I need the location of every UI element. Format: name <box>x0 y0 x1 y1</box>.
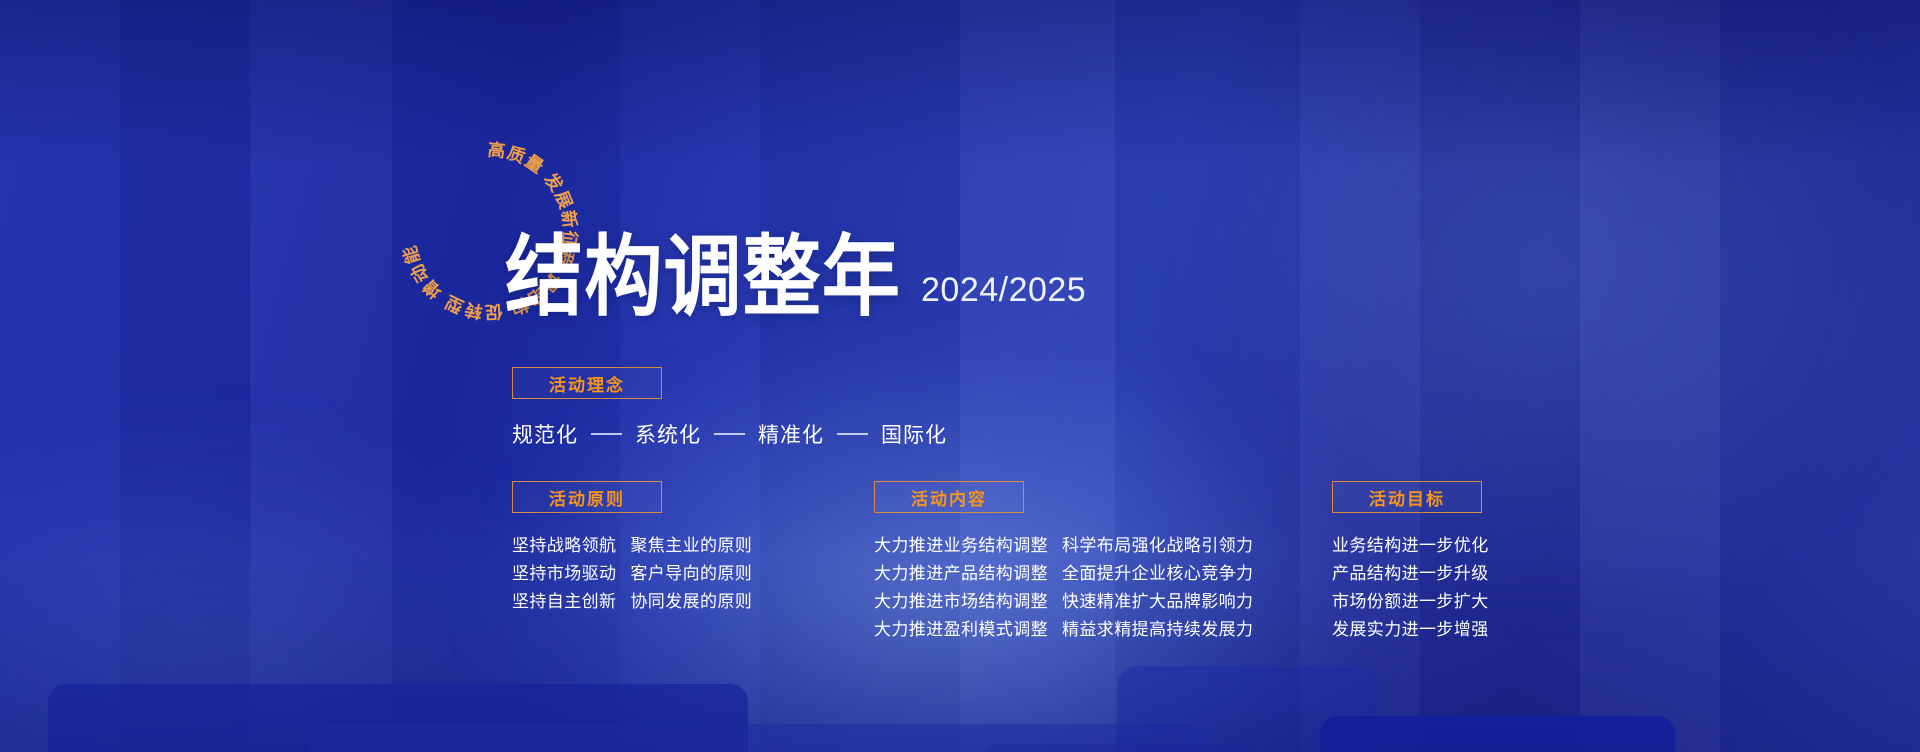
content-row-4-left: 大力推进盈利模式调整 <box>874 616 1048 644</box>
title-row: 结构调整年 2024/2025 <box>505 244 1086 320</box>
concept-keyword-list: 规范化 系统化 精准化 国际化 <box>512 419 947 449</box>
concept-item-3: 精准化 <box>758 419 824 449</box>
separator-dash-icon <box>714 433 745 435</box>
list-item: 坚持自主创新 协同发展的原则 <box>512 588 752 616</box>
goal-row-4: 发展实力进一步增强 <box>1332 616 1489 644</box>
content-list: 大力推进业务结构调整 科学布局强化战略引领力 大力推进产品结构调整 全面提升企业… <box>874 532 1253 644</box>
content-row-2-left: 大力推进产品结构调整 <box>874 560 1048 588</box>
list-item: 大力推进业务结构调整 科学布局强化战略引领力 <box>874 532 1253 560</box>
list-item: 大力推进盈利模式调整 精益求精提高持续发展力 <box>874 616 1253 644</box>
concept-item-4: 国际化 <box>881 419 947 449</box>
section-badge-goal: 活动目标 <box>1332 481 1482 513</box>
content-row-1-right: 科学布局强化战略引领力 <box>1062 532 1253 560</box>
section-badge-content: 活动内容 <box>874 481 1024 513</box>
list-item: 大力推进产品结构调整 全面提升企业核心竞争力 <box>874 560 1253 588</box>
goal-row-2: 产品结构进一步升级 <box>1332 560 1489 588</box>
list-item: 大力推进市场结构调整 快速精准扩大品牌影响力 <box>874 588 1253 616</box>
promotional-banner: 奋进高质量 发展新征程 调结构 促转型 增动能 结构调整年 2024/2025 … <box>0 0 1920 752</box>
content-row-2-right: 全面提升企业核心竞争力 <box>1062 560 1253 588</box>
principle-row-3-left: 坚持自主创新 <box>512 588 616 616</box>
list-item: 坚持战略领航 聚焦主业的原则 <box>512 532 752 560</box>
year-range-label: 2024/2025 <box>921 271 1086 310</box>
list-item: 业务结构进一步优化 <box>1332 532 1489 560</box>
principle-row-2-right: 客户导向的原则 <box>630 560 752 588</box>
separator-dash-icon <box>837 433 868 435</box>
goal-list: 业务结构进一步优化 产品结构进一步升级 市场份额进一步扩大 发展实力进一步增强 <box>1332 532 1489 644</box>
list-item: 产品结构进一步升级 <box>1332 560 1489 588</box>
list-item: 坚持市场驱动 客户导向的原则 <box>512 560 752 588</box>
section-badge-concept: 活动理念 <box>512 367 662 399</box>
page-title: 结构调整年 <box>505 235 901 320</box>
content-row-4-right: 精益求精提高持续发展力 <box>1062 616 1253 644</box>
list-item: 发展实力进一步增强 <box>1332 616 1489 644</box>
content-row-3-left: 大力推进市场结构调整 <box>874 588 1048 616</box>
concept-item-2: 系统化 <box>635 419 701 449</box>
goal-row-3: 市场份额进一步扩大 <box>1332 588 1489 616</box>
principle-row-2-left: 坚持市场驱动 <box>512 560 616 588</box>
principle-row-3-right: 协同发展的原则 <box>630 588 752 616</box>
content-row-3-right: 快速精准扩大品牌影响力 <box>1062 588 1253 616</box>
content-row-1-left: 大力推进业务结构调整 <box>874 532 1048 560</box>
concept-item-1: 规范化 <box>512 419 578 449</box>
principle-row-1-left: 坚持战略领航 <box>512 532 616 560</box>
principle-list: 坚持战略领航 聚焦主业的原则 坚持市场驱动 客户导向的原则 坚持自主创新 协同发… <box>512 532 752 616</box>
separator-dash-icon <box>591 433 622 435</box>
principle-row-1-right: 聚焦主业的原则 <box>630 532 752 560</box>
section-badge-principle: 活动原则 <box>512 481 662 513</box>
goal-row-1: 业务结构进一步优化 <box>1332 532 1489 560</box>
list-item: 市场份额进一步扩大 <box>1332 588 1489 616</box>
